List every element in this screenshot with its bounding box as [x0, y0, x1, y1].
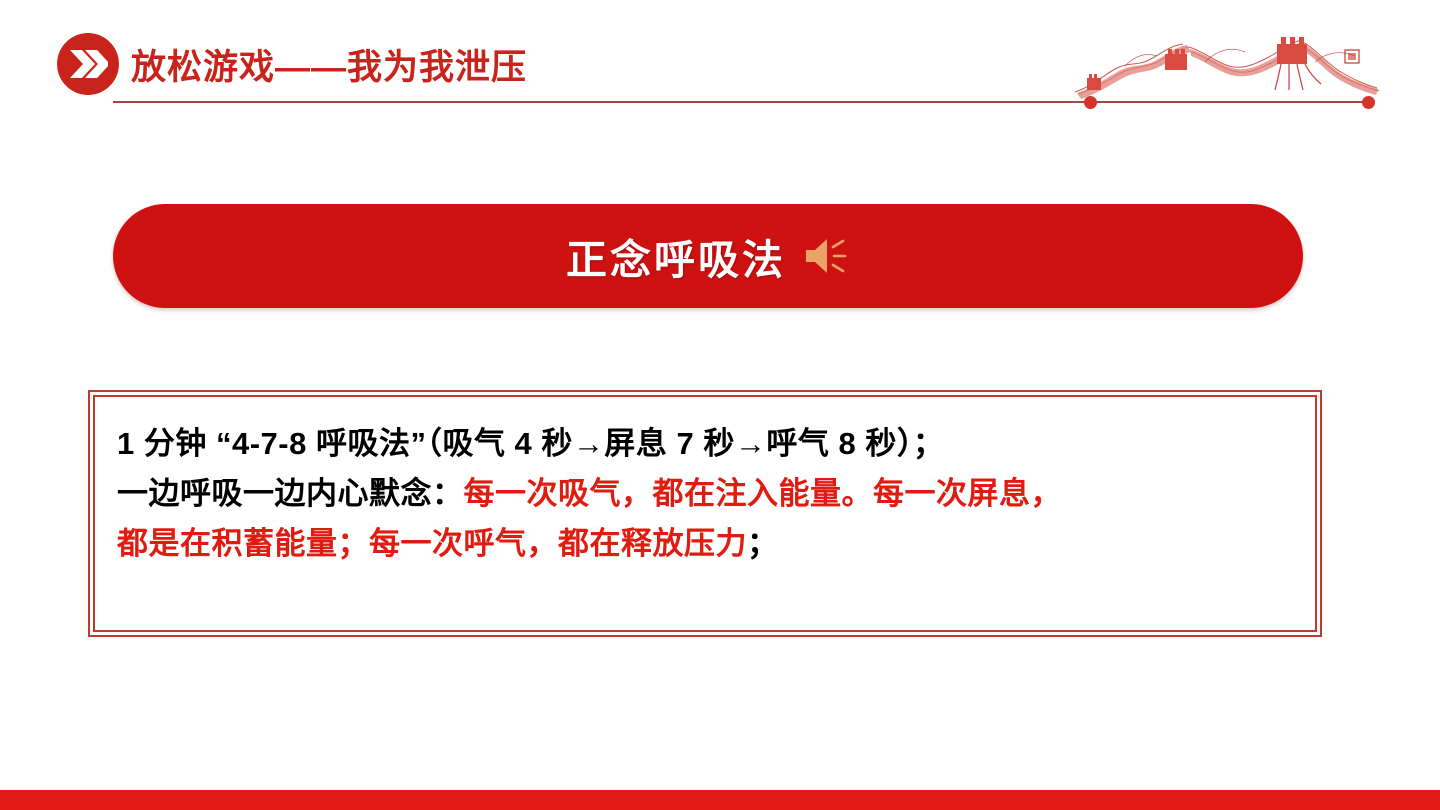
content-line-1: 1 分钟 “4-7-8 呼吸法”（吸气 4 秒→屏息 7 秒→呼气 8 秒）；	[117, 419, 1295, 469]
page-title: 放松游戏——我为我泄压	[131, 33, 527, 95]
footer-bar	[0, 790, 1440, 810]
content-box-inner: 1 分钟 “4-7-8 呼吸法”（吸气 4 秒→屏息 7 秒→呼气 8 秒）； …	[93, 395, 1317, 632]
content-line-3: 都是在积蓄能量；每一次呼气，都在释放压力；	[117, 519, 1295, 569]
content-line-3-red: 都是在积蓄能量；每一次呼气，都在释放压力	[117, 526, 747, 561]
content-box: 1 分钟 “4-7-8 呼吸法”（吸气 4 秒→屏息 7 秒→呼气 8 秒）； …	[88, 390, 1322, 637]
content-line-2: 一边呼吸一边内心默念：每一次吸气，都在注入能量。每一次屏息，	[117, 469, 1295, 519]
content-line-3-black: ；	[747, 526, 779, 561]
double-chevron-right-icon	[57, 33, 119, 95]
speaker-sound-icon[interactable]	[802, 235, 850, 277]
content-line-2-red: 每一次吸气，都在注入能量。每一次屏息，	[464, 476, 1063, 511]
banner-title: 正念呼吸法	[566, 226, 786, 286]
slide-root: 放松游戏——我为我泄压	[0, 0, 1440, 810]
great-wall-illustration	[1065, 22, 1385, 107]
content-line-2-black: 一边呼吸一边内心默念：	[117, 476, 464, 511]
section-banner: 正念呼吸法	[113, 204, 1303, 308]
slide-header: 放松游戏——我为我泄压	[0, 0, 1440, 130]
